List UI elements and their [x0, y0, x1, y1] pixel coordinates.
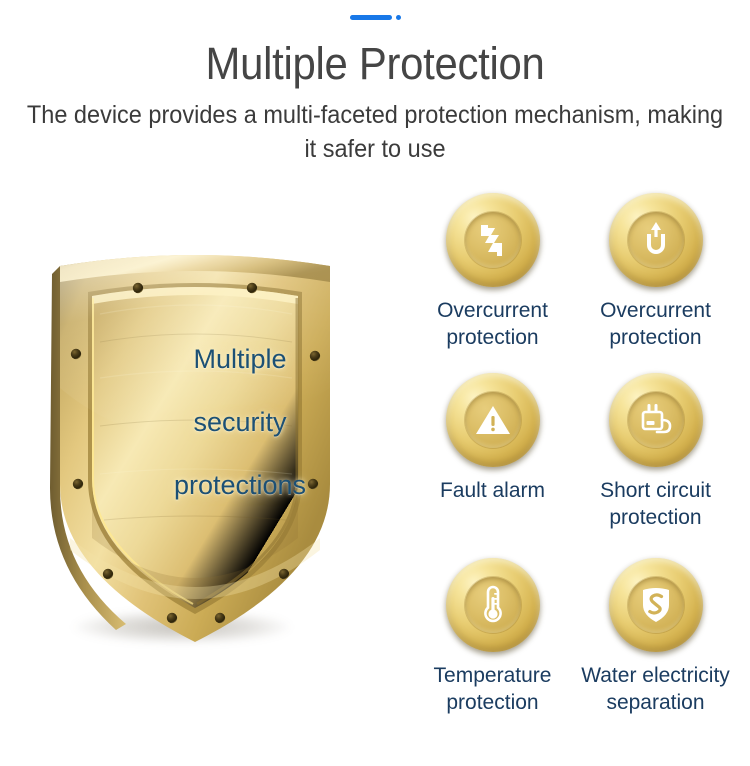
lightning-bolt-icon [476, 222, 510, 258]
feature-label-line-1: Water electricity [568, 662, 743, 689]
badge-inner-disc [465, 577, 521, 633]
badge-inner-disc [628, 577, 684, 633]
badge [606, 370, 706, 470]
feature-item-overcurrent-2[interactable]: Overcurrent protection [568, 190, 743, 351]
feature-item-fault-alarm[interactable]: Fault alarm [405, 370, 580, 504]
feature-label-line-2: protection [405, 689, 580, 716]
badge [443, 190, 543, 290]
thermometer-icon [481, 585, 505, 625]
badge [606, 555, 706, 655]
feature-label-line-1: Temperature [405, 662, 580, 689]
feature-label-line-1: Fault alarm [405, 477, 580, 504]
feature-label-line-1: Overcurrent [568, 297, 743, 324]
feature-label: Overcurrent protection [568, 297, 743, 351]
warning-triangle-icon [474, 403, 512, 437]
shield-illustration: Multiple security protections [30, 238, 360, 658]
feature-label: Temperature protection [405, 662, 580, 716]
accent-rule [0, 12, 750, 22]
feature-label-line-1: Short circuit [568, 477, 743, 504]
badge-inner-disc [628, 392, 684, 448]
feature-label-line-2: protection [568, 504, 743, 531]
badge [443, 370, 543, 470]
badge [443, 555, 543, 655]
feature-item-temperature[interactable]: Temperature protection [405, 555, 580, 716]
accent-bar [350, 15, 392, 20]
badge [606, 190, 706, 290]
feature-label-line-2: protection [405, 324, 580, 351]
feature-label: Short circuit protection [568, 477, 743, 531]
feature-label-line-1: Overcurrent [405, 297, 580, 324]
feature-item-overcurrent-1[interactable]: Overcurrent protection [405, 190, 580, 351]
overvoltage-u-arrow-icon [639, 221, 673, 259]
water-electricity-shield-icon [639, 586, 673, 624]
feature-label: Water electricity separation [568, 662, 743, 716]
badge-inner-disc [465, 392, 521, 448]
feature-item-water-electricity[interactable]: Water electricity separation [568, 555, 743, 716]
infographic-page: Multiple Protection The device provides … [0, 0, 750, 766]
badge-inner-disc [628, 212, 684, 268]
page-title: Multiple Protection [26, 38, 724, 90]
badge-inner-disc [465, 212, 521, 268]
accent-dot [396, 15, 401, 20]
feature-label-line-2: separation [568, 689, 743, 716]
metal-shield-icon [30, 238, 360, 658]
page-subtitle: The device provides a multi-faceted prot… [23, 98, 728, 166]
feature-grid: Overcurrent protection Overcurrent prote… [400, 190, 750, 750]
feature-label: Fault alarm [405, 477, 580, 504]
feature-label-line-2: protection [568, 324, 743, 351]
feature-item-short-circuit[interactable]: Short circuit protection [568, 370, 743, 531]
feature-label: Overcurrent protection [405, 297, 580, 351]
power-plug-icon [637, 402, 675, 438]
